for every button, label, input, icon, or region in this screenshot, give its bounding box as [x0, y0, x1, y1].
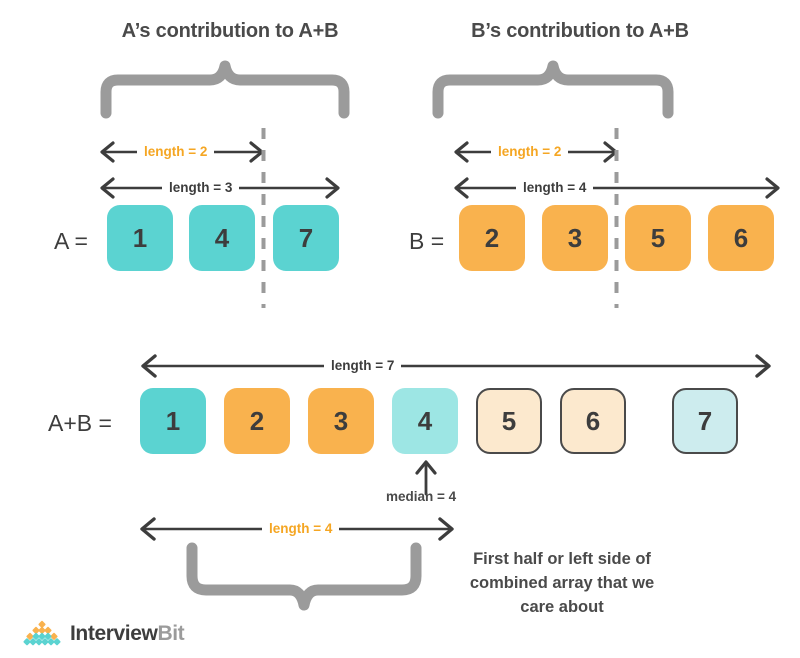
label-b-contribution-length: length = 2 [491, 144, 568, 159]
partition-line-b [614, 128, 619, 308]
section-title-a: A’s contribution to A+B [80, 20, 380, 43]
array-a-cell-0: 1 [107, 205, 173, 271]
array-ab-label: A+B = [48, 410, 112, 437]
caption-line-2: combined array that we [448, 572, 676, 596]
array-a-cell-1: 4 [189, 205, 255, 271]
array-ab-cell-3: 4 [392, 388, 458, 454]
label-median: median = 4 [386, 489, 456, 504]
arrow-ab-total [137, 354, 775, 378]
brace-left-half [186, 548, 424, 620]
array-a-label: A = [54, 228, 88, 255]
diagram-canvas: A’s contribution to A+B B’s contribution… [0, 0, 800, 658]
array-b-cell-1: 3 [542, 205, 608, 271]
interviewbit-logo-text: InterviewBit [70, 622, 184, 646]
label-b-total-length: length = 4 [516, 180, 593, 195]
array-b-cell-0: 2 [459, 205, 525, 271]
partition-line-a [261, 128, 266, 308]
label-ab-total-length: length = 7 [324, 358, 401, 373]
caption-left-half: First half or left side of combined arra… [448, 548, 676, 620]
array-b-label: B = [409, 228, 444, 255]
brace-b-contribution [432, 58, 674, 118]
array-ab-cell-0: 1 [140, 388, 206, 454]
label-a-contribution-length: length = 2 [137, 144, 214, 159]
array-ab-cell-1: 2 [224, 388, 290, 454]
array-ab-cell-6: 7 [672, 388, 738, 454]
interviewbit-logo[interactable]: InterviewBit [22, 620, 184, 648]
caption-line-3: care about [448, 596, 676, 620]
array-ab-cell-5: 6 [560, 388, 626, 454]
section-title-b: B’s contribution to A+B [440, 20, 720, 43]
array-ab-cell-2: 3 [308, 388, 374, 454]
array-a-cell-2: 7 [273, 205, 339, 271]
logo-name-primary: Interview [70, 622, 157, 645]
logo-name-secondary: Bit [157, 622, 184, 645]
array-ab-cell-4: 5 [476, 388, 542, 454]
caption-line-1: First half or left side of [448, 548, 676, 572]
interviewbit-logo-icon [22, 620, 62, 648]
array-b-cell-3: 6 [708, 205, 774, 271]
array-b-cell-2: 5 [625, 205, 691, 271]
label-a-total-length: length = 3 [162, 180, 239, 195]
brace-a-contribution [100, 58, 350, 118]
label-ab-half-length: length = 4 [262, 521, 339, 536]
